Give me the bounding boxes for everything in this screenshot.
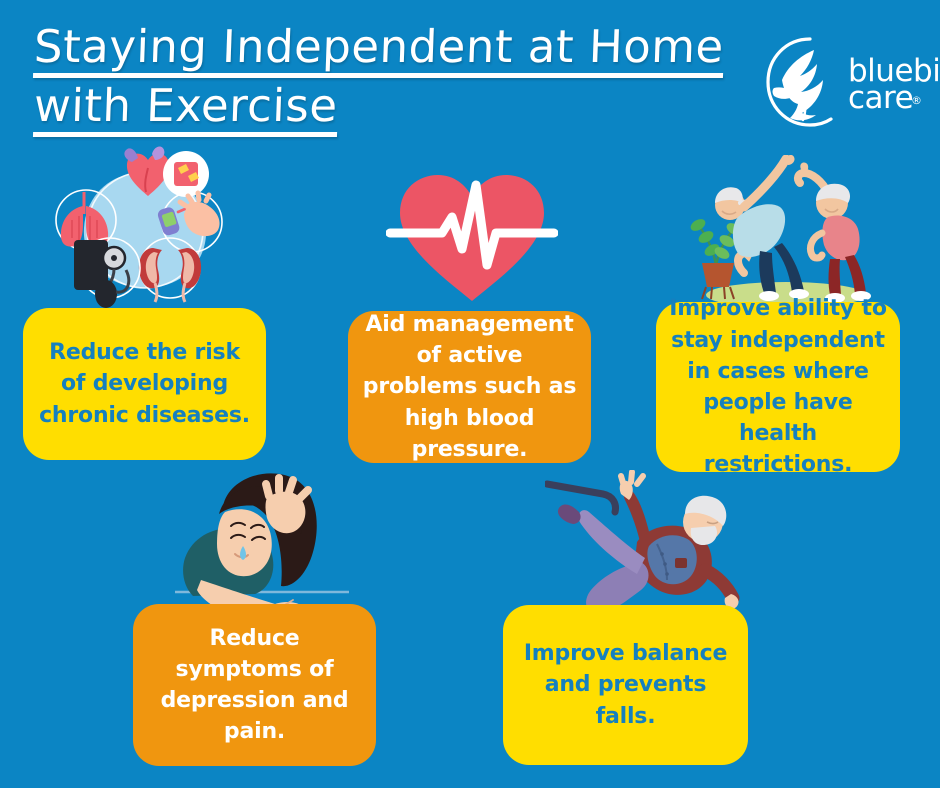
woman-stretching [798,162,871,303]
logo-wordmark: bluebird care ® [848,58,940,111]
benefit-card-reduce-risk[interactable]: Reduce the risk of developing chronic di… [23,308,266,460]
benefit-card-text: Reduce symptoms of depression and pain. [145,623,364,748]
title-line-2: with Exercise [33,77,339,136]
bluebird-care-logo: bluebird care ® [762,36,930,128]
pills-badge [163,151,209,197]
infographic-poster: Staying Independent at Home with Exercis… [0,0,940,788]
benefit-card-text: Aid management of active problems such a… [360,309,579,465]
benefit-card-improve-balance[interactable]: Improve balance and prevents falls. [503,605,748,765]
walking-cane [547,484,616,512]
benefit-card-improve-ability[interactable]: Improve ability to stay independent in c… [656,302,900,472]
heart-ecg-icon [386,165,558,305]
page-title: Staying Independent at Home with Exercis… [34,18,774,136]
bluebird-icon [762,36,858,128]
body-organs-illustration [52,142,238,314]
seniors-exercising-illustration [682,155,878,307]
benefit-card-text: Improve ability to stay independent in c… [668,293,888,480]
registered-mark: ® [911,96,922,105]
title-line-1: Staying Independent at Home [33,18,725,77]
benefit-card-text: Improve balance and prevents falls. [515,638,736,732]
logo-word-care: care [848,85,940,112]
benefit-card-text: Reduce the risk of developing chronic di… [35,337,254,431]
benefit-card-reduce-depression[interactable]: Reduce symptoms of depression and pain. [133,604,376,766]
benefit-card-aid-management[interactable]: Aid management of active problems such a… [348,311,591,463]
